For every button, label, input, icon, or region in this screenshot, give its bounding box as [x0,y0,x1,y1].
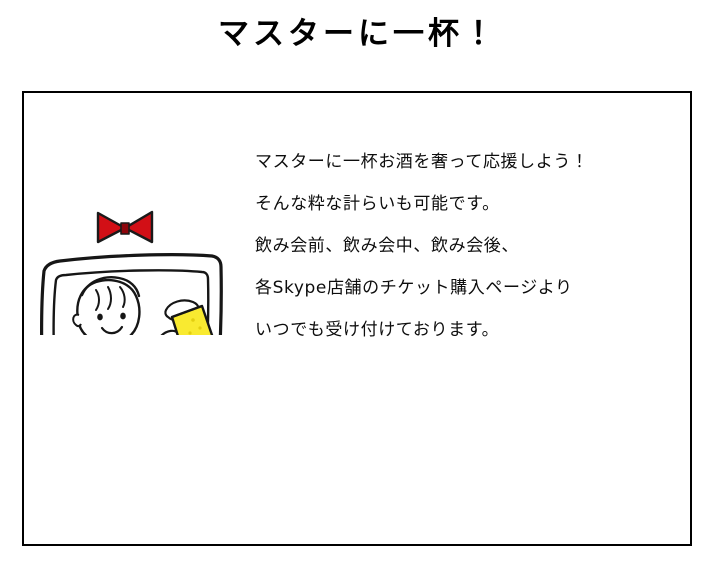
character-eye-left [97,314,103,321]
tv-bartender-illustration [30,95,250,335]
body-line-3: 飲み会前、飲み会中、飲み会後、 [255,225,655,267]
illustration-svg [30,95,250,335]
body-line-1: マスターに一杯お酒を奢って応援しよう！ [255,141,655,183]
character-eye-right [120,313,126,320]
body-line-5: いつでも受け付けております。 [255,309,655,351]
body-line-2: そんな粋な計らいも可能です。 [255,183,655,225]
body-copy: マスターに一杯お酒を奢って応援しよう！ そんな粋な計らいも可能です。 飲み会前、… [255,141,655,351]
red-bowtie-icon [98,212,152,242]
body-line-4: 各Skype店舗のチケット購入ページより [255,267,655,309]
page-title: マスターに一杯！ [0,14,716,54]
